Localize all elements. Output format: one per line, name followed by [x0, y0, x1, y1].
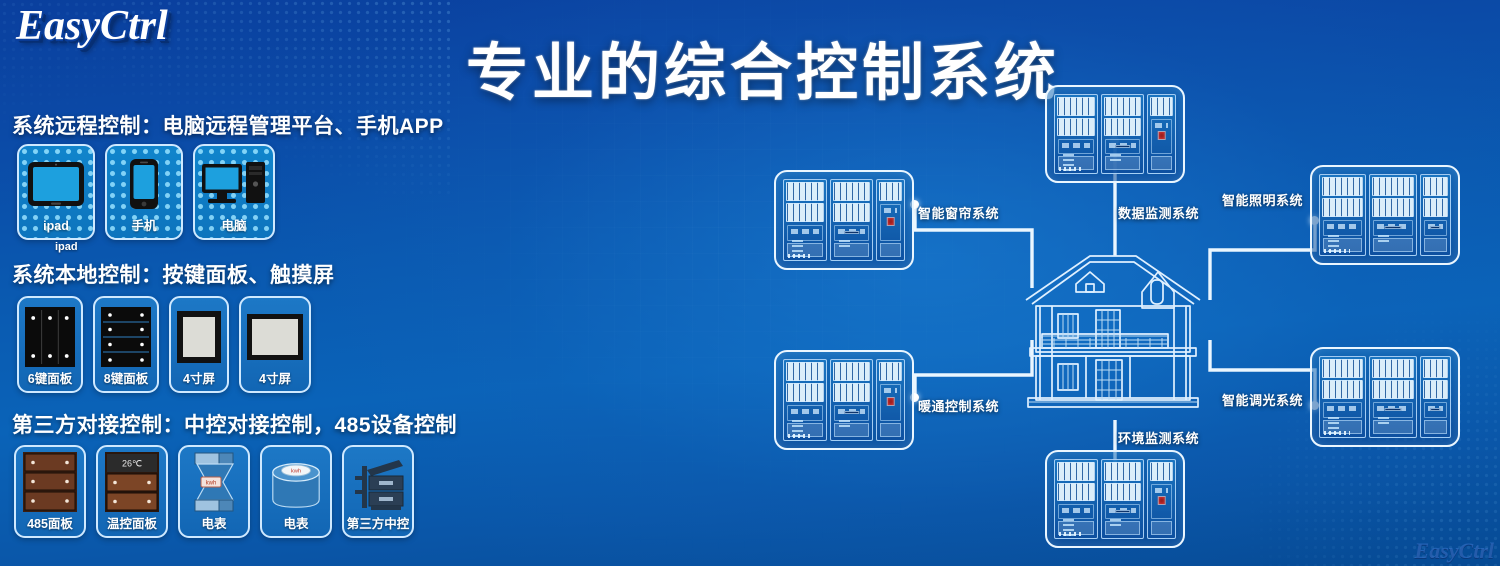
- node-label-lighting-system: 智能照明系统: [1222, 190, 1303, 209]
- device-label: 手机: [131, 220, 156, 234]
- four-inch-screen-icon: [176, 305, 222, 368]
- device-label: 第三方中控: [347, 518, 410, 532]
- ipad-footnote: ipad: [55, 241, 78, 253]
- node-label-data-monitoring-system: 数据监测系统: [1118, 203, 1199, 222]
- device-card-8key-panel[interactable]: 8键面板: [93, 296, 159, 393]
- device-row-third-party: 485面板 26℃ 温控面板: [14, 445, 414, 538]
- device-card-meter-2[interactable]: kwh 电表: [260, 445, 332, 538]
- device-label: 电脑: [221, 220, 246, 234]
- device-label: 电表: [283, 518, 308, 532]
- svg-text:kwh: kwh: [206, 481, 217, 487]
- device-label: 温控面板: [107, 518, 157, 532]
- device-card-meter-1[interactable]: kwh 电表: [178, 445, 250, 538]
- node-label-hvac-system: 暖通控制系统: [918, 396, 999, 415]
- din-controller-icon: [1054, 459, 1176, 539]
- house-icon: [1018, 248, 1208, 413]
- device-card-6key-panel[interactable]: 6键面板: [17, 296, 83, 393]
- four-inch-screen-icon: [246, 305, 304, 368]
- brand-logo: EasyCtrl: [16, 2, 168, 50]
- node-environment-monitoring-system[interactable]: [1045, 450, 1185, 548]
- smartphone-icon: [112, 153, 176, 215]
- device-card-485-panel[interactable]: 485面板: [14, 445, 86, 538]
- node-data-monitoring-system[interactable]: [1045, 85, 1185, 183]
- section-heading-remote: 系统远程控制：电脑远程管理平台、手机APP: [12, 110, 444, 140]
- device-card-thermostat-panel[interactable]: 26℃ 温控面板: [96, 445, 168, 538]
- din-controller-icon: [783, 179, 905, 261]
- section-heading-third-party: 第三方对接控制：中控对接控制，485设备控制: [12, 409, 457, 439]
- device-label: 4寸屏: [183, 373, 215, 387]
- thermostat-panel-icon: 26℃: [103, 451, 161, 513]
- rs485-panel-icon: [21, 451, 79, 513]
- node-hvac-system[interactable]: [774, 350, 914, 450]
- device-card-third-party-control[interactable]: 第三方中控: [342, 445, 414, 538]
- node-label-environment-monitoring-system: 环境监测系统: [1118, 428, 1199, 447]
- tablet-icon: [24, 153, 88, 215]
- device-row-local: 6键面板: [17, 296, 311, 393]
- device-card-ipad[interactable]: ipad: [17, 144, 95, 240]
- watermark-logo: EasyCtrl: [1415, 538, 1494, 564]
- eight-key-panel-icon: [100, 305, 152, 368]
- device-card-4inch-screen-2[interactable]: 4寸屏: [239, 296, 311, 393]
- node-label-dimming-system: 智能调光系统: [1222, 390, 1303, 409]
- device-label: 4寸屏: [259, 373, 291, 387]
- section-heading-local: 系统本地控制：按键面板、触摸屏: [12, 259, 335, 289]
- device-label: 8键面板: [104, 373, 148, 387]
- electric-meter-icon: kwh: [185, 451, 243, 513]
- din-controller-icon: [1054, 94, 1176, 174]
- device-label: 电表: [201, 518, 226, 532]
- poster-canvas: EasyCtrl 专业的综合控制系统 系统远程控制：电脑远程管理平台、手机APP…: [0, 0, 1500, 566]
- device-card-phone[interactable]: 手机: [105, 144, 183, 240]
- six-key-panel-icon: [24, 305, 76, 368]
- node-dimming-system[interactable]: [1310, 347, 1460, 447]
- device-label: ipad: [43, 220, 69, 234]
- node-label-curtain-system: 智能窗帘系统: [918, 203, 999, 222]
- device-card-computer[interactable]: 电脑: [193, 144, 275, 240]
- device-label: 485面板: [27, 518, 73, 532]
- din-controller-icon: [783, 359, 905, 441]
- device-row-remote: ipad 手机: [17, 144, 275, 240]
- round-electric-meter-icon: kwh: [267, 454, 325, 513]
- din-controller-icon: [1319, 356, 1451, 438]
- din-controller-icon: [1319, 174, 1451, 256]
- device-label: 6键面板: [28, 373, 72, 387]
- svg-text:kwh: kwh: [291, 468, 301, 474]
- node-lighting-system[interactable]: [1310, 165, 1460, 265]
- thermostat-display-value: 26℃: [122, 459, 142, 469]
- node-curtain-system[interactable]: [774, 170, 914, 270]
- device-card-4inch-screen-1[interactable]: 4寸屏: [169, 296, 229, 393]
- third-party-central-control-icon: [349, 454, 407, 513]
- desktop-computer-icon: [200, 153, 268, 215]
